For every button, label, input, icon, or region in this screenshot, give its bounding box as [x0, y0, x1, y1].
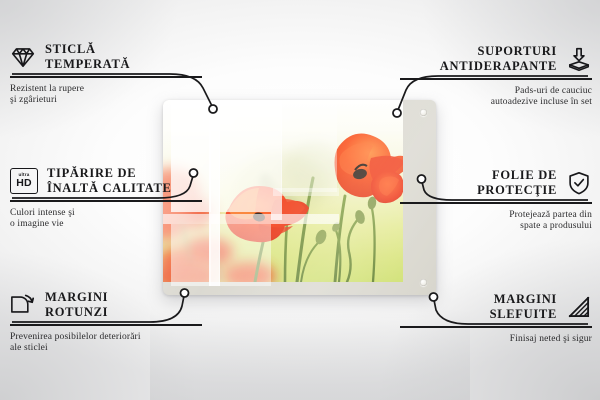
feature-sub-line2: şi zgârieturi: [10, 95, 202, 107]
feature-folie-de-protectie[interactable]: FOLIE DE PROTECŢIE Protejează partea din…: [400, 168, 592, 233]
rounded-corner-icon: [10, 292, 36, 318]
feature-title-line2: ROTUNZI: [45, 305, 108, 320]
feature-divider: [400, 78, 592, 80]
feature-title-line1: TIPĂRIRE DE: [47, 166, 172, 181]
infographic-canvas: STICLĂ TEMPERATĂ Rezistent la rupere şi …: [0, 0, 600, 400]
feature-tiparire-inalta-calitate[interactable]: ultra HD TIPĂRIRE DE ÎNALTĂ CALITATE Cul…: [10, 166, 202, 231]
feature-sub-line2: o imagine vie: [10, 219, 202, 231]
feature-title-line2: ANTIDERAPANTE: [440, 59, 557, 74]
feature-title-line1: FOLIE DE: [477, 168, 557, 183]
feature-sub-line1: Prevenirea posibilelor deteriorări: [10, 332, 202, 344]
feature-divider: [400, 202, 592, 204]
feature-title-line1: SUPORTURI: [440, 44, 557, 59]
feature-sub-line1: Finisaj neted şi sigur: [400, 334, 592, 346]
product-glass-board[interactable]: [163, 100, 436, 295]
feature-sub-line1: Rezistent la rupere: [10, 84, 202, 96]
mount-screw-bottom-right: [420, 279, 427, 286]
feature-sub-line2: autoadezive incluse în set: [400, 97, 592, 109]
feature-title-line1: STICLĂ: [45, 42, 130, 57]
shield-check-icon: [566, 170, 592, 196]
feature-margini-rotunzi[interactable]: MARGINI ROTUNZI Prevenirea posibilelor d…: [10, 290, 202, 355]
ultra-hd-badge-bottom: HD: [16, 178, 32, 189]
feature-suporturi-antiderapante[interactable]: SUPORTURI ANTIDERAPANTE Pads-uri de cauc…: [400, 44, 592, 109]
feature-sub-line1: Pads-uri de cauciuc: [400, 86, 592, 98]
feature-title-line2: SLEFUITE: [490, 307, 557, 322]
frame-sheen: [163, 100, 436, 295]
mount-screw-top-right: [420, 109, 427, 116]
feature-divider: [10, 76, 202, 78]
pad-down-arrow-icon: [566, 46, 592, 72]
feature-sub-line1: Protejează partea din: [400, 210, 592, 222]
feature-sticla-temperata[interactable]: STICLĂ TEMPERATĂ Rezistent la rupere şi …: [10, 42, 202, 107]
feature-divider: [10, 200, 202, 202]
feature-title-line1: MARGINI: [490, 292, 557, 307]
diamond-icon: [10, 44, 36, 70]
polished-edge-icon: [566, 294, 592, 320]
feature-sub-line2: ale sticlei: [10, 343, 202, 355]
feature-margini-slefuite[interactable]: MARGINI SLEFUITE Finisaj neted şi sigur: [400, 292, 592, 345]
feature-title-line2: ÎNALTĂ CALITATE: [47, 181, 172, 196]
feature-divider: [10, 324, 202, 326]
feature-title-line1: MARGINI: [45, 290, 108, 305]
feature-divider: [400, 326, 592, 328]
feature-sub-line1: Culori intense şi: [10, 208, 202, 220]
feature-title-line2: PROTECŢIE: [477, 183, 557, 198]
ultra-hd-icon: ultra HD: [10, 168, 38, 194]
feature-sub-line2: spate a produsului: [400, 221, 592, 233]
feature-title-line2: TEMPERATĂ: [45, 57, 130, 72]
